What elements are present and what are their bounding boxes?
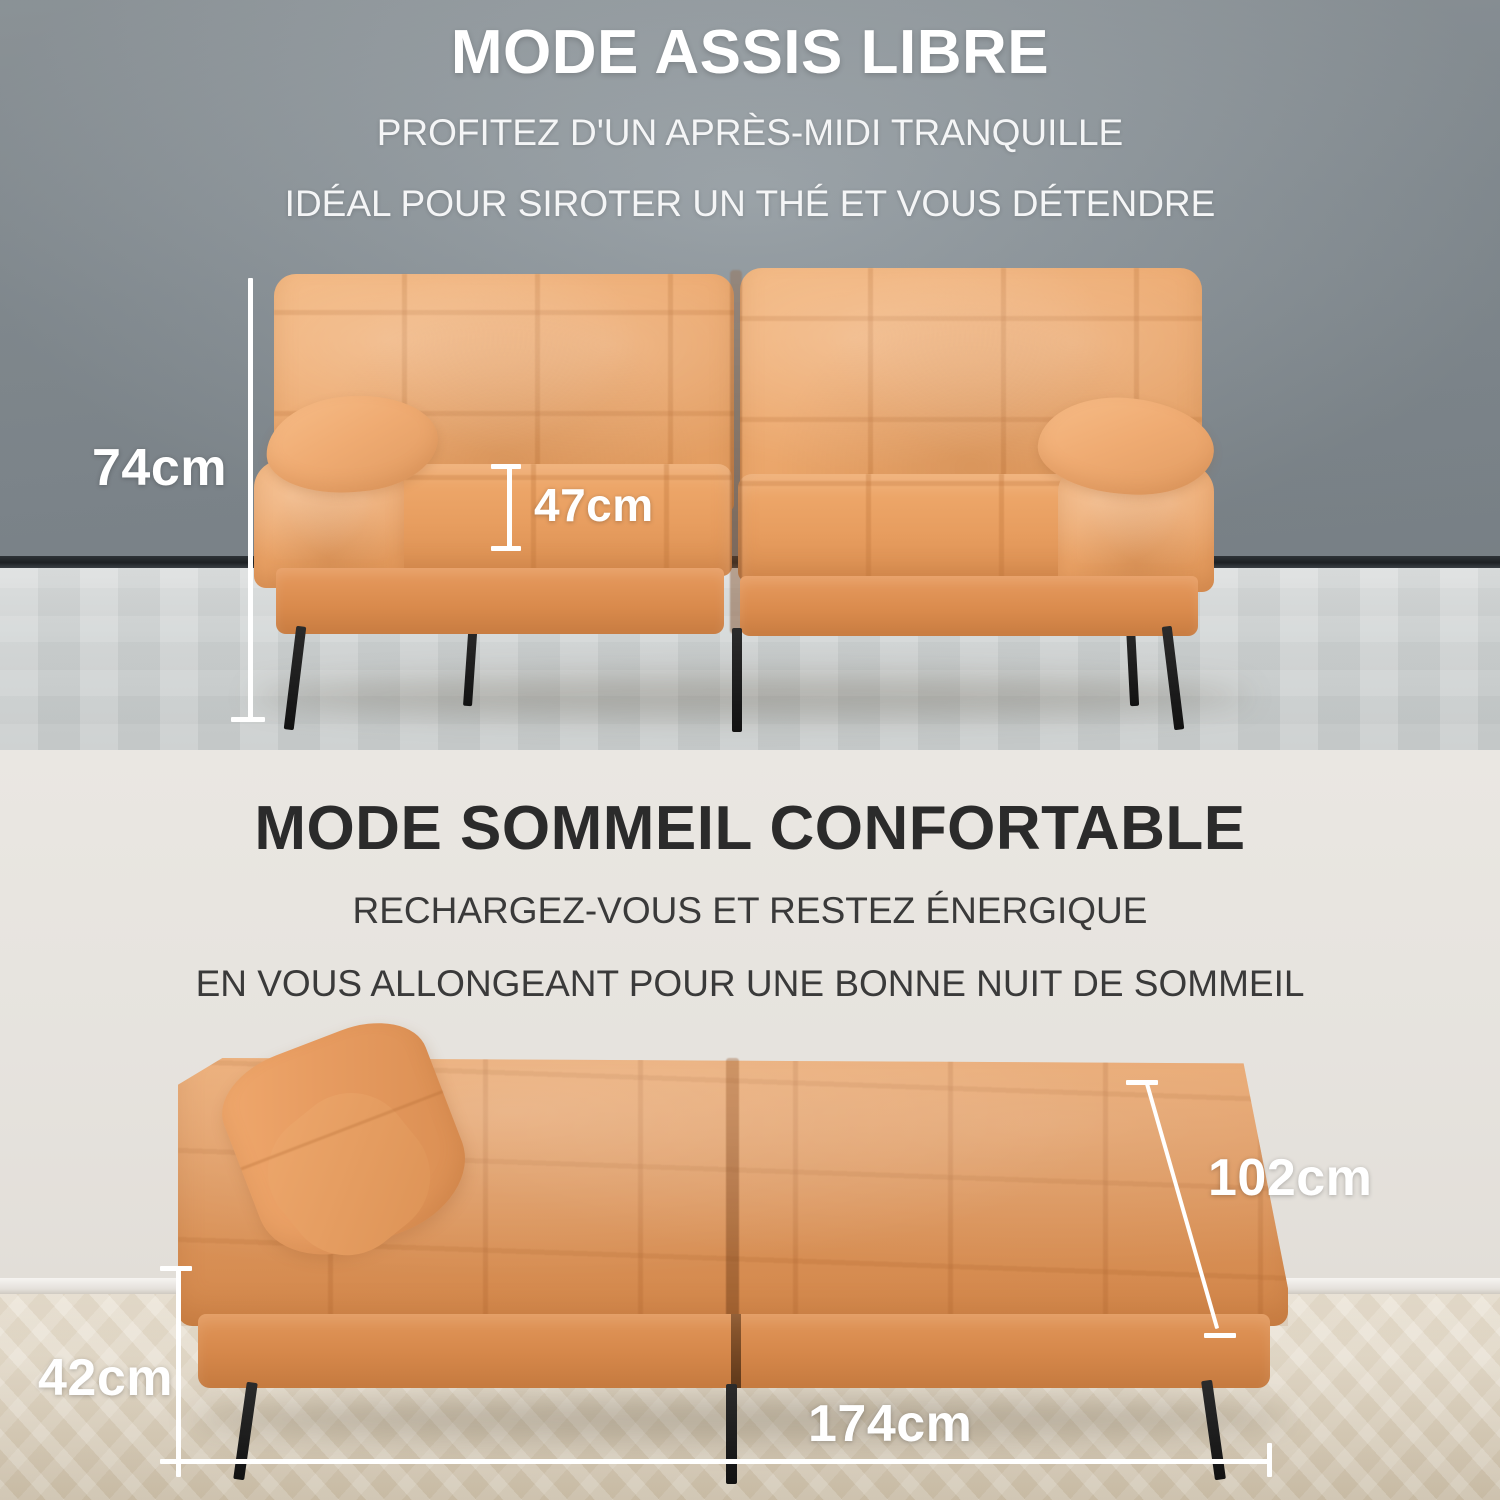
- sofa-skirt-right: [740, 576, 1198, 636]
- bed-base-seam: [731, 1314, 741, 1388]
- dimension-cap-top-47: [491, 464, 521, 469]
- dimension-line-height-42: [176, 1268, 181, 1464]
- dimension-label-depth-102: 102cm: [1208, 1148, 1372, 1208]
- dimension-cap-bottom-74: [231, 717, 265, 722]
- sofa-bed-flat-mode: [178, 1030, 1298, 1430]
- dimension-label-height-42: 42cm: [38, 1348, 173, 1408]
- dimension-cap-top-42: [160, 1266, 192, 1271]
- sleeping-subtitle-line-1: RECHARGEZ-VOUS ET RESTEZ ÉNERGIQUE: [0, 888, 1500, 933]
- product-infographic: MODE ASSIS LIBRE PROFITEZ D'UN APRÈS-MID…: [0, 0, 1500, 1500]
- sitting-headings: MODE ASSIS LIBRE PROFITEZ D'UN APRÈS-MID…: [0, 22, 1500, 226]
- bed-center-seam: [726, 1058, 739, 1326]
- dimension-cap-bottom-102: [1204, 1333, 1236, 1338]
- dimension-label-width-174: 174cm: [808, 1394, 972, 1454]
- dimension-cap-left-174: [176, 1443, 181, 1477]
- dimension-cap-right-174: [1267, 1443, 1272, 1477]
- panel-sitting-mode: MODE ASSIS LIBRE PROFITEZ D'UN APRÈS-MID…: [0, 0, 1500, 750]
- sofa-sitting-mode: [248, 268, 1248, 688]
- dimension-label-height-74: 74cm: [92, 438, 227, 498]
- sitting-subtitle-line-2: IDÉAL POUR SIROTER UN THÉ ET VOUS DÉTEND…: [0, 181, 1500, 226]
- dimension-cap-bottom-47: [491, 546, 521, 551]
- dimension-label-seat-47: 47cm: [534, 478, 654, 532]
- sleeping-subtitle-line-2: EN VOUS ALLONGEANT POUR UNE BONNE NUIT D…: [0, 961, 1500, 1006]
- sleeping-headings: MODE SOMMEIL CONFORTABLE RECHARGEZ-VOUS …: [0, 798, 1500, 1006]
- dimension-line-height-74: [248, 278, 253, 722]
- sleeping-title: MODE SOMMEIL CONFORTABLE: [0, 798, 1500, 860]
- dimension-cap-top-102: [1126, 1080, 1158, 1085]
- sofa-leg-front-center: [732, 628, 742, 732]
- dimension-line-width-174: [176, 1459, 1272, 1464]
- sitting-title: MODE ASSIS LIBRE: [0, 22, 1500, 84]
- dimension-line-seat-47: [507, 466, 512, 550]
- bed-leg-front-center: [726, 1384, 737, 1484]
- sofa-skirt-left: [276, 568, 724, 634]
- sitting-subtitle-line-1: PROFITEZ D'UN APRÈS-MIDI TRANQUILLE: [0, 110, 1500, 155]
